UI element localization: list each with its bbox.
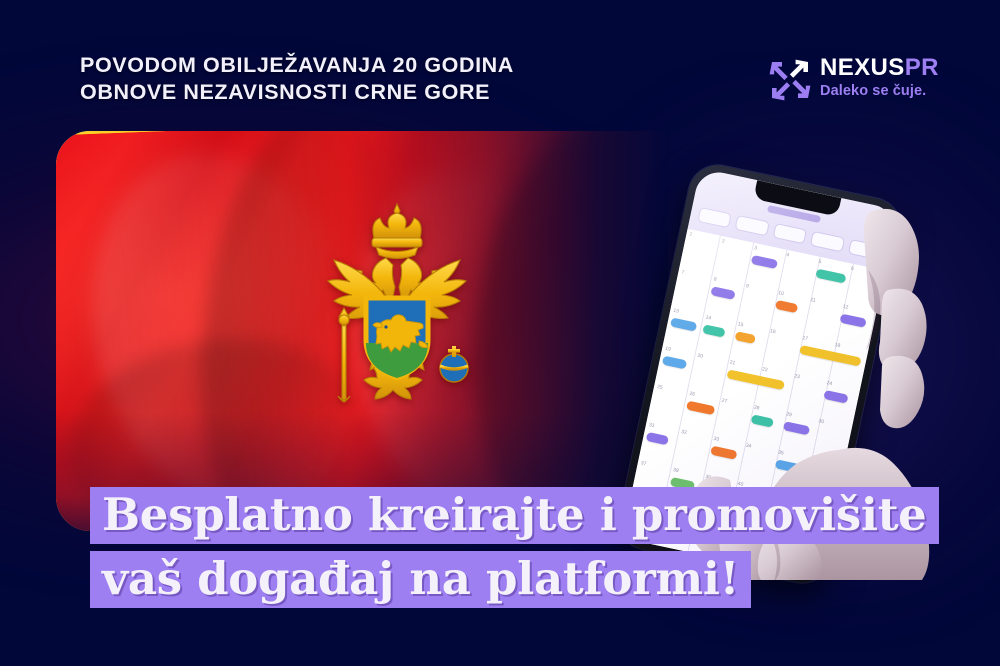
caption: Besplatno kreirajte i promovišite vaš do… bbox=[90, 487, 939, 608]
converging-arrows-icon bbox=[768, 58, 812, 102]
logo-text: NEXUSPR Daleko se čuje. bbox=[820, 56, 939, 99]
logo-wordmark: NEXUSPR bbox=[820, 56, 939, 80]
logo-name-primary: NEXUS bbox=[820, 54, 905, 81]
logo-name-secondary: PR bbox=[905, 54, 939, 81]
logo[interactable]: NEXUSPR Daleko se čuje. bbox=[768, 54, 948, 106]
headline-line-2: OBNOVE NEZAVISNOSTI CRNE GORE bbox=[80, 79, 600, 106]
caption-line-1: Besplatno kreirajte i promovišite bbox=[90, 487, 939, 544]
headline: POVODOM OBILJEŽAVANJA 20 GODINA OBNOVE N… bbox=[80, 52, 600, 106]
caption-line-2: vaš događaj na platformi! bbox=[90, 551, 751, 608]
banner-canvas: POVODOM OBILJEŽAVANJA 20 GODINA OBNOVE N… bbox=[0, 0, 1000, 666]
coat-of-arms-icon bbox=[282, 196, 512, 436]
logo-tagline: Daleko se čuje. bbox=[820, 83, 939, 99]
headline-line-1: POVODOM OBILJEŽAVANJA 20 GODINA bbox=[80, 52, 600, 79]
